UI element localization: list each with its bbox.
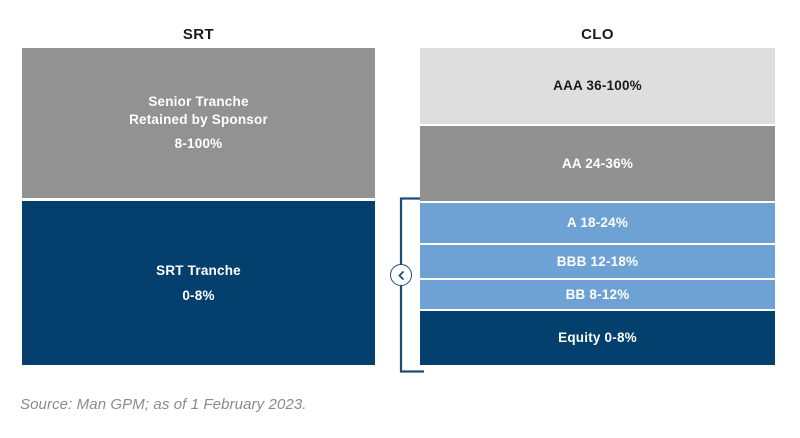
clo-tranche-a: A 18-24% [420,203,775,243]
clo-tranche-aaa-label: AAA 36-100% [553,77,642,95]
clo-tranche-aaa: AAA 36-100% [420,48,775,124]
srt-tranche-senior: Senior Tranche Retained by Sponsor 8-100… [22,48,375,198]
clo-tranche-bb: BB 8-12% [420,280,775,309]
clo-tranche-a-label: A 18-24% [567,214,628,232]
clo-tranche-equity-label: Equity 0-8% [558,329,637,347]
clo-tranche-stack: AAA 36-100% AA 24-36% A 18-24% BBB 12-18… [420,48,775,365]
srt-column-header: SRT [22,26,375,43]
clo-tranche-aa: AA 24-36% [420,126,775,201]
clo-tranche-aa-label: AA 24-36% [562,155,633,173]
srt-senior-label-line1: Senior Tranche [148,93,248,111]
tranche-comparison-diagram: SRT Senior Tranche Retained by Sponsor 8… [0,0,800,438]
srt-senior-label-line2: Retained by Sponsor [129,111,268,129]
srt-tranche-label: SRT Tranche [156,262,241,280]
srt-senior-range: 8-100% [175,135,223,153]
chevron-left-button[interactable] [390,264,412,286]
clo-tranche-bbb-label: BBB 12-18% [557,253,639,271]
source-note: Source: Man GPM; as of 1 February 2023. [20,396,307,413]
srt-tranche-srt: SRT Tranche 0-8% [22,201,375,365]
clo-column-header: CLO [420,26,775,43]
srt-tranche-range: 0-8% [182,287,214,305]
clo-tranche-bb-label: BB 8-12% [566,286,630,304]
chevron-left-icon [396,270,407,281]
clo-tranche-equity: Equity 0-8% [420,311,775,365]
clo-tranche-bbb: BBB 12-18% [420,245,775,278]
srt-tranche-stack: Senior Tranche Retained by Sponsor 8-100… [22,48,375,365]
